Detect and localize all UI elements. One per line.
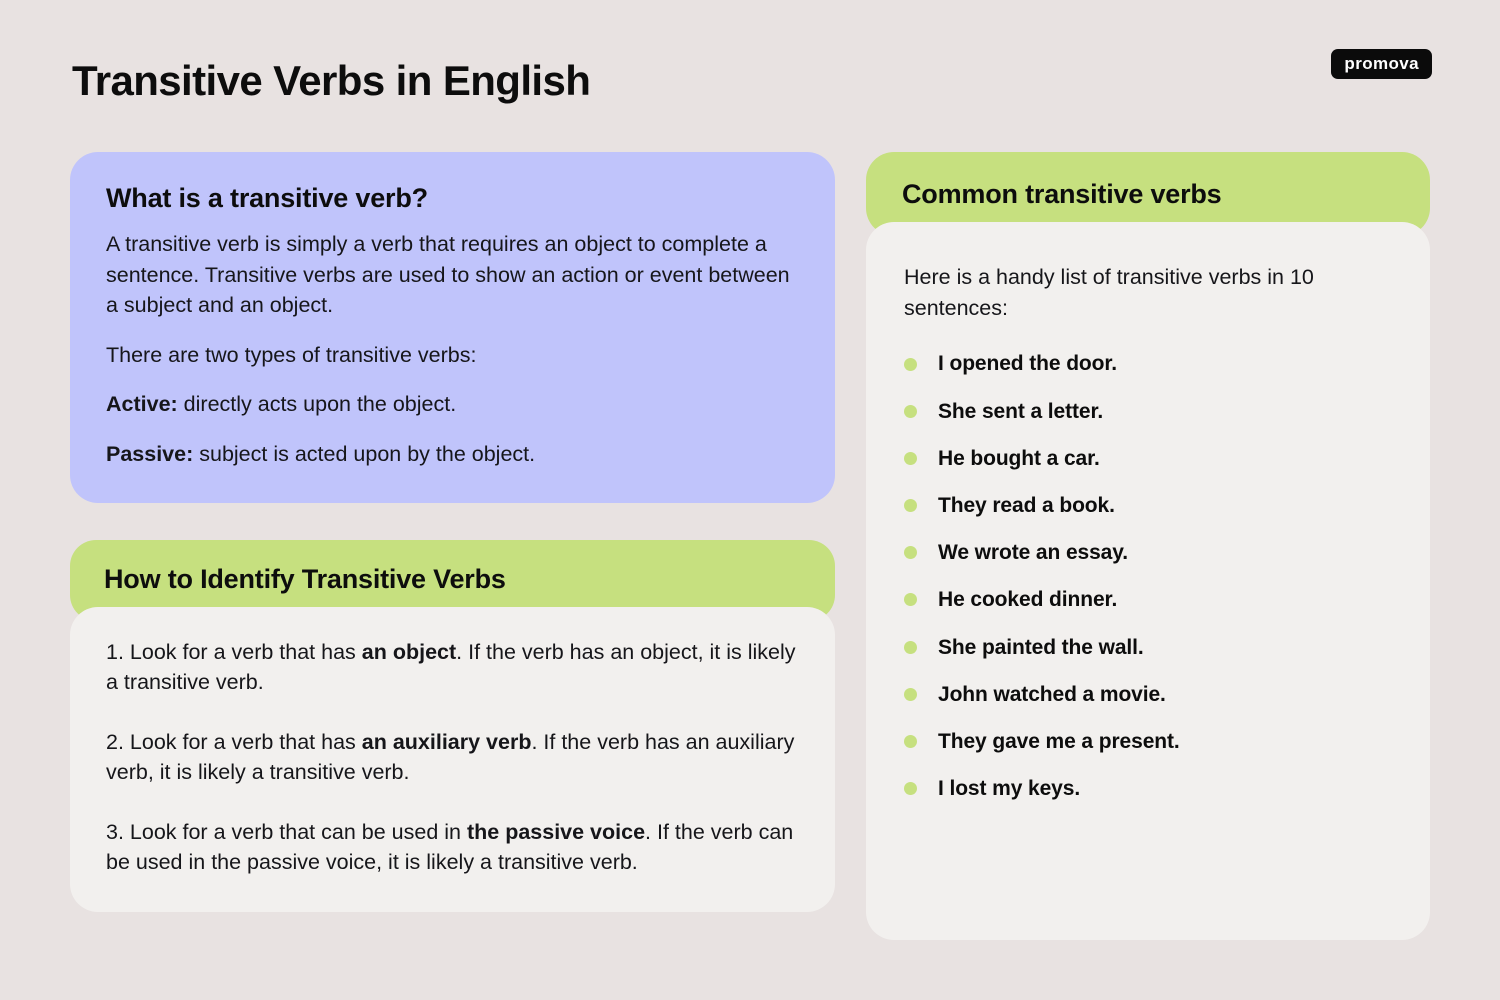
definition-card: What is a transitive verb? A transitive … bbox=[70, 152, 835, 503]
list-item: He bought a car. bbox=[904, 446, 1394, 471]
body-text: There are two types of transitive verbs: bbox=[106, 343, 476, 367]
common-verbs-title: Common transitive verbs bbox=[902, 178, 1394, 210]
list-item: They read a book. bbox=[904, 493, 1394, 518]
bullet-dot-icon bbox=[904, 405, 917, 418]
body-text: subject is acted upon by the object. bbox=[193, 442, 535, 466]
bullet-dot-icon bbox=[904, 641, 917, 654]
promova-logo: promova bbox=[1331, 49, 1432, 79]
left-column: What is a transitive verb? A transitive … bbox=[70, 152, 835, 912]
bullet-dot-icon bbox=[904, 546, 917, 559]
list-item: They gave me a present. bbox=[904, 729, 1394, 754]
paragraph: A transitive verb is simply a verb that … bbox=[106, 229, 799, 321]
page-title: Transitive Verbs in English bbox=[72, 57, 590, 105]
list-item: She painted the wall. bbox=[904, 635, 1394, 660]
verb-sentence-text: He bought a car. bbox=[938, 446, 1100, 471]
body-text: directly acts upon the object. bbox=[178, 392, 456, 416]
emphasis-text: the passive voice bbox=[467, 820, 645, 844]
list-item: He cooked dinner. bbox=[904, 587, 1394, 612]
paragraph: Passive: subject is acted upon by the ob… bbox=[106, 439, 799, 470]
bullet-dot-icon bbox=[904, 782, 917, 795]
emphasis-text: Passive: bbox=[106, 442, 193, 466]
verb-sentence-text: John watched a movie. bbox=[938, 682, 1166, 707]
verb-sentence-text: We wrote an essay. bbox=[938, 540, 1128, 565]
body-text: 2. Look for a verb that has bbox=[106, 730, 362, 754]
verb-sentence-text: They gave me a present. bbox=[938, 729, 1180, 754]
verb-sentence-list: I opened the door.She sent a letter.He b… bbox=[904, 351, 1394, 801]
verb-sentence-text: I opened the door. bbox=[938, 351, 1117, 376]
emphasis-text: an auxiliary verb bbox=[362, 730, 532, 754]
common-verbs-body: Here is a handy list of transitive verbs… bbox=[866, 222, 1430, 940]
identify-card: How to Identify Transitive Verbs 1. Look… bbox=[70, 540, 835, 911]
verb-sentence-text: I lost my keys. bbox=[938, 776, 1080, 801]
identify-card-title: How to Identify Transitive Verbs bbox=[104, 563, 801, 595]
verb-sentence-text: She painted the wall. bbox=[938, 635, 1144, 660]
list-item: I lost my keys. bbox=[904, 776, 1394, 801]
bullet-dot-icon bbox=[904, 688, 917, 701]
body-text: 1. Look for a verb that has bbox=[106, 640, 362, 664]
bullet-dot-icon bbox=[904, 593, 917, 606]
list-item: We wrote an essay. bbox=[904, 540, 1394, 565]
emphasis-text: an object bbox=[362, 640, 456, 664]
paragraph: 2. Look for a verb that has an auxiliary… bbox=[106, 727, 799, 788]
paragraph: Active: directly acts upon the object. bbox=[106, 389, 799, 420]
body-text: 3. Look for a verb that can be used in bbox=[106, 820, 467, 844]
emphasis-text: Active: bbox=[106, 392, 178, 416]
identify-card-body: 1. Look for a verb that has an object. I… bbox=[70, 607, 835, 912]
paragraph: 3. Look for a verb that can be used in t… bbox=[106, 817, 799, 878]
bullet-dot-icon bbox=[904, 499, 917, 512]
paragraph: 1. Look for a verb that has an object. I… bbox=[106, 637, 799, 698]
verb-sentence-text: She sent a letter. bbox=[938, 399, 1103, 424]
paragraph: There are two types of transitive verbs: bbox=[106, 340, 799, 371]
definition-card-title: What is a transitive verb? bbox=[106, 182, 799, 214]
list-item: She sent a letter. bbox=[904, 399, 1394, 424]
verb-sentence-text: They read a book. bbox=[938, 493, 1115, 518]
definition-paragraph-list: A transitive verb is simply a verb that … bbox=[106, 229, 799, 469]
right-column: Common transitive verbs Here is a handy … bbox=[866, 152, 1430, 940]
verb-sentence-text: He cooked dinner. bbox=[938, 587, 1117, 612]
common-verbs-intro: Here is a handy list of transitive verbs… bbox=[904, 262, 1394, 323]
bullet-dot-icon bbox=[904, 452, 917, 465]
bullet-dot-icon bbox=[904, 358, 917, 371]
identify-step-list: 1. Look for a verb that has an object. I… bbox=[106, 637, 799, 878]
body-text: A transitive verb is simply a verb that … bbox=[106, 232, 790, 317]
bullet-dot-icon bbox=[904, 735, 917, 748]
list-item: I opened the door. bbox=[904, 351, 1394, 376]
list-item: John watched a movie. bbox=[904, 682, 1394, 707]
